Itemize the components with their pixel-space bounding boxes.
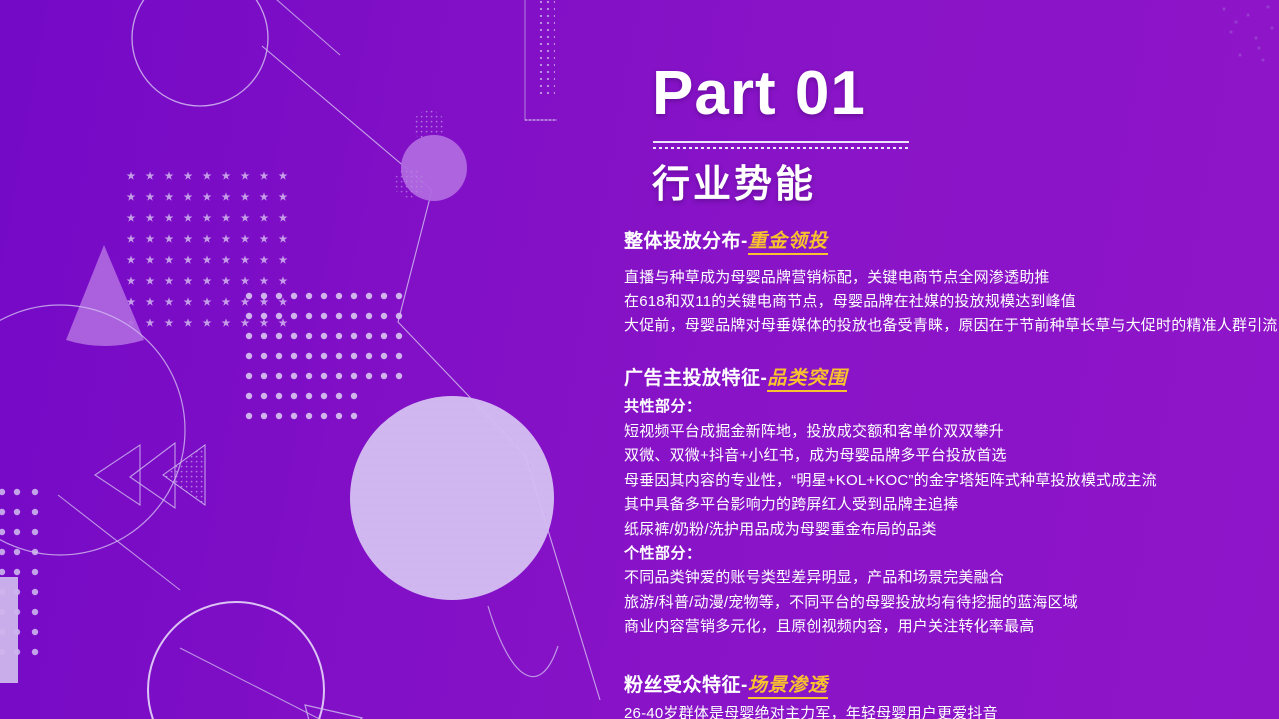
section-heading-accent: 重金领投 (748, 231, 828, 255)
divider-dashed-line (653, 147, 909, 149)
section-advertiser-features: 广告主投放特征-品类突围 共性部分： 短视频平台成掘金新阵地，投放成交额和客单价… (624, 365, 1279, 640)
l-outline (525, 0, 557, 120)
section-body: 26-40岁群体是母婴绝对主力军，年轻母婴用户更爱抖音 整体下沉趋势明显，微信用… (624, 702, 1279, 719)
section-heading: 粉丝受众特征-场景渗透 (624, 672, 1279, 700)
circle-outline-bottom (148, 602, 324, 719)
page-title: Part 01 (652, 63, 866, 125)
section-heading: 广告主投放特征-品类突围 (624, 365, 1279, 393)
dot-grid-left-edge (0, 489, 38, 655)
cone-shape (66, 245, 144, 346)
arc-bottom-right (488, 606, 558, 677)
triangle-outline-bottom (305, 705, 362, 719)
diagonal-line-c (180, 648, 400, 719)
section-overall-distribution: 整体投放分布-重金领投 直播与种草成为母婴品牌营销标配，关键电商节点全网渗透助推… (624, 228, 1279, 339)
section-audience-features: 粉丝受众特征-场景渗透 26-40岁群体是母婴绝对主力军，年轻母婴用户更爱抖音 … (624, 672, 1279, 719)
content-column: Part 01 行业势能 整体投放分布-重金领投 直播与种草成为母婴品牌营销标配… (622, 0, 1279, 719)
body-line: 26-40岁群体是母婴绝对主力军，年轻母婴用户更爱抖音 (624, 702, 1279, 719)
body-line: 短视频平台成掘金新阵地，投放成交额和客单价双双攀升 (624, 420, 1279, 444)
section-body: 直播与种草成为母婴品牌营销标配，关键电商节点全网渗透助推 在618和双11的关键… (624, 266, 1279, 339)
section-heading-main: 粉丝受众特征- (624, 675, 748, 696)
solid-circle-mid (401, 135, 467, 201)
title-divider (653, 141, 909, 150)
zigzag-polyline (262, 46, 600, 700)
pale-rect-bottom-left (0, 577, 18, 683)
body-line: 其中具备多平台影响力的跨屏红人受到品牌主追捧 (624, 493, 1279, 517)
dotted-bar (536, 0, 555, 94)
dotted-circle-small-top (413, 110, 445, 142)
star-grid (127, 171, 288, 326)
body-line: 双微、双微+抖音+小红书，成为母婴品牌多平台投放首选 (624, 444, 1279, 468)
body-line: 在618和双11的关键电商节点，母婴品牌在社媒的投放规模达到峰值 (624, 290, 1279, 314)
large-lavender-circle (350, 396, 554, 600)
body-line: 旅游/科普/动漫/宠物等，不同平台的母婴投放均有待挖掘的蓝海区域 (624, 591, 1279, 615)
section-heading-accent: 品类突围 (767, 368, 847, 392)
dotted-circle-small-left (394, 168, 424, 198)
divider-solid-line (653, 141, 909, 143)
page-subtitle: 行业势能 (652, 163, 816, 209)
body-line: 商业内容营销多元化，且原创视频内容，用户关注转化率最高 (624, 615, 1279, 639)
body-line: 直播与种草成为母婴品牌营销标配，关键电商节点全网渗透助推 (624, 266, 1279, 290)
section-heading-main: 整体投放分布- (624, 231, 748, 252)
body-line: 大促前，母婴品牌对母垂媒体的投放也备受青睐，原因在于节前种草长草与大促时的精准人… (624, 314, 1279, 338)
circle-outline-left (0, 305, 185, 555)
body-line: 纸尿裤/奶粉/洗护用品成为母婴重金布局的品类 (624, 518, 1279, 542)
body-subheading: 个性部分： (624, 542, 1279, 566)
body-line: 母垂因其内容的专业性，“明星+KOL+KOC”的金字塔矩阵式种草投放模式成主流 (624, 469, 1279, 493)
diagonal-line-b (58, 495, 180, 590)
section-heading-accent: 场景渗透 (748, 675, 828, 699)
diagonal-line-a (245, 0, 340, 55)
dot-grid-center (246, 293, 402, 419)
body-subheading: 共性部分： (624, 395, 1279, 419)
triangle-arrows (95, 443, 205, 508)
section-heading: 整体投放分布-重金领投 (624, 228, 1279, 256)
circle-outline-top (132, 0, 268, 106)
slide-canvas: Part 01 行业势能 整体投放分布-重金领投 直播与种草成为母婴品牌营销标配… (0, 0, 1279, 719)
section-body: 共性部分： 短视频平台成掘金新阵地，投放成交额和客单价双双攀升 双微、双微+抖音… (624, 395, 1279, 639)
body-line: 不同品类钟爱的账号类型差异明显，产品和场景完美融合 (624, 566, 1279, 590)
sections-list: 整体投放分布-重金领投 直播与种草成为母婴品牌营销标配，关键电商节点全网渗透助推… (624, 228, 1279, 719)
section-heading-main: 广告主投放特征- (624, 368, 767, 389)
